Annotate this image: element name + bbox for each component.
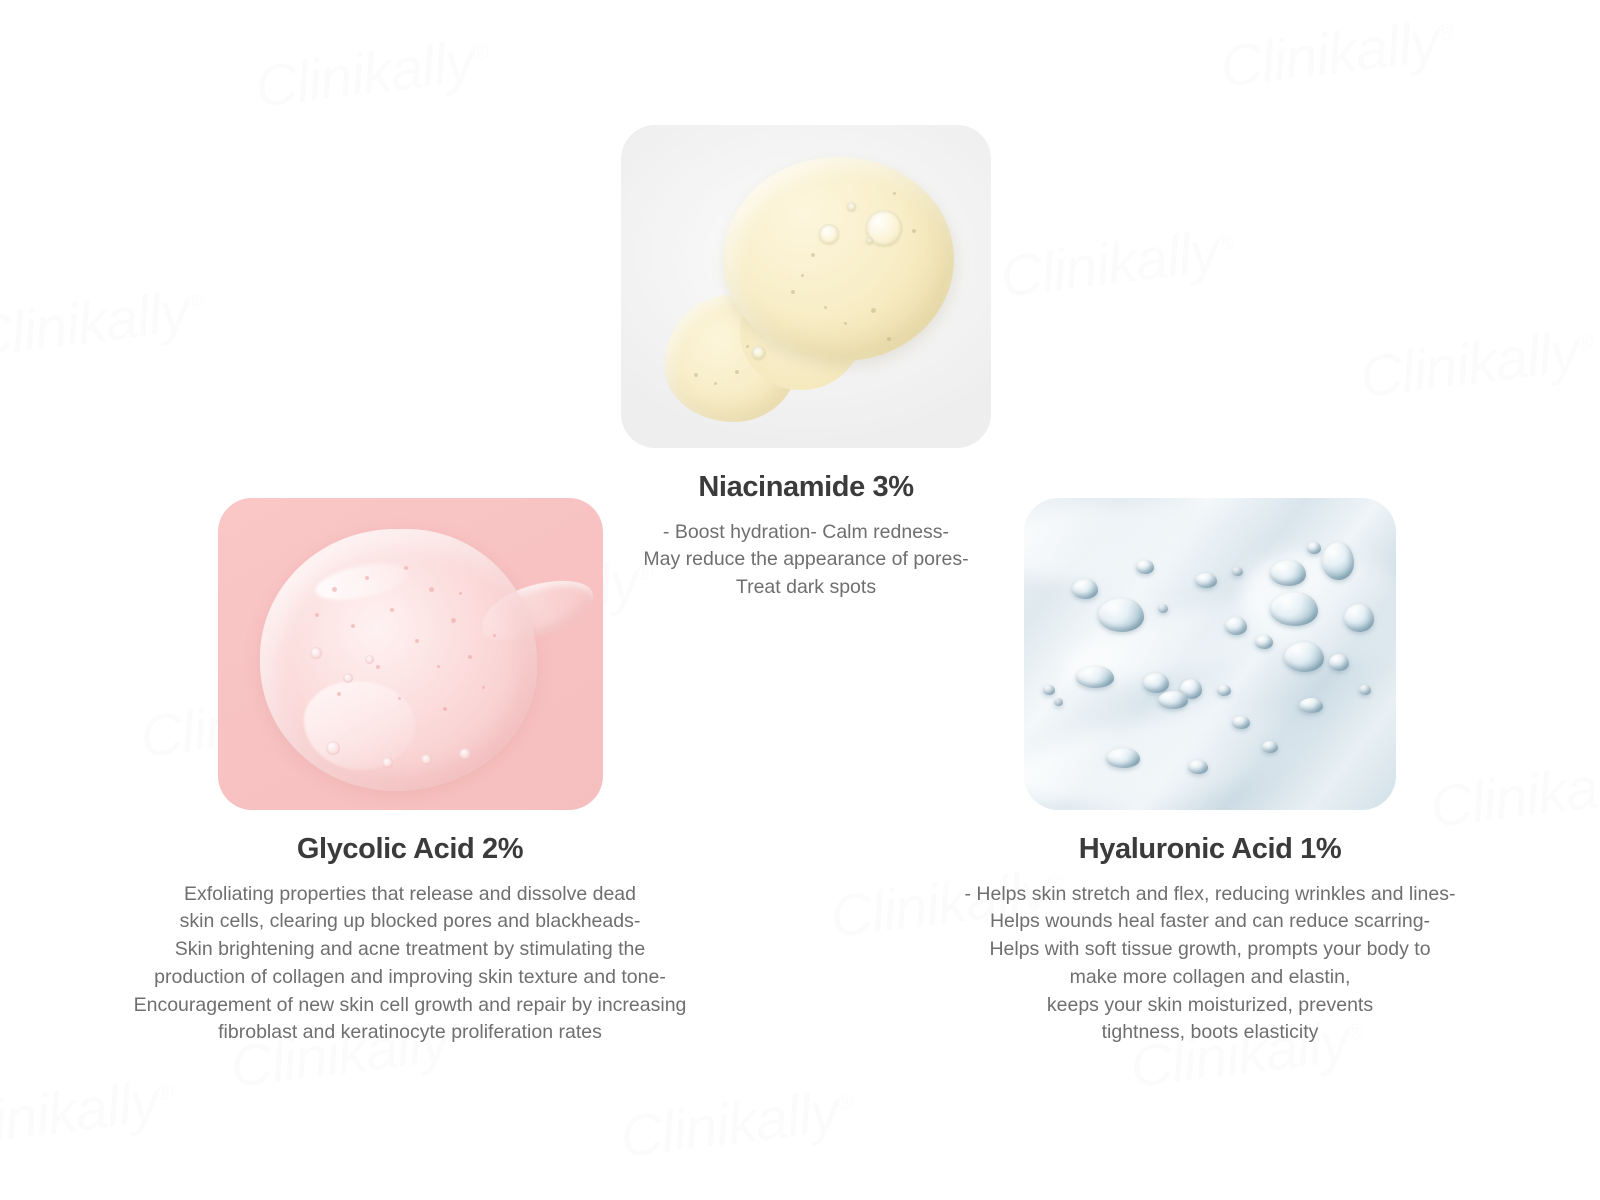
ingredient-panel-glycolic: Glycolic Acid 2% Exfoliating properties … [100, 498, 720, 1047]
ingredient-image-glycolic[interactable] [218, 498, 603, 810]
ingredient-title-glycolic: Glycolic Acid 2% [297, 832, 523, 867]
ingredient-image-hyaluronic[interactable] [1024, 498, 1396, 810]
ingredient-title-hyaluronic: Hyaluronic Acid 1% [1079, 832, 1341, 867]
ingredient-board: Niacinamide 3% - Boost hydration- Calm r… [0, 0, 1600, 1200]
glycolic-acid-pink-gel-drop-icon [218, 498, 603, 810]
ingredient-title-niacinamide: Niacinamide 3% [698, 470, 913, 505]
hyaluronic-acid-water-droplets-icon [1024, 498, 1396, 810]
ingredient-image-niacinamide[interactable] [621, 125, 991, 448]
niacinamide-serum-droplet-icon [621, 125, 991, 448]
ingredient-description-hyaluronic: - Helps skin stretch and flex, reducing … [965, 881, 1456, 1047]
ingredient-panel-hyaluronic: Hyaluronic Acid 1% - Helps skin stretch … [900, 498, 1520, 1047]
ingredient-description-glycolic: Exfoliating properties that release and … [134, 881, 687, 1047]
